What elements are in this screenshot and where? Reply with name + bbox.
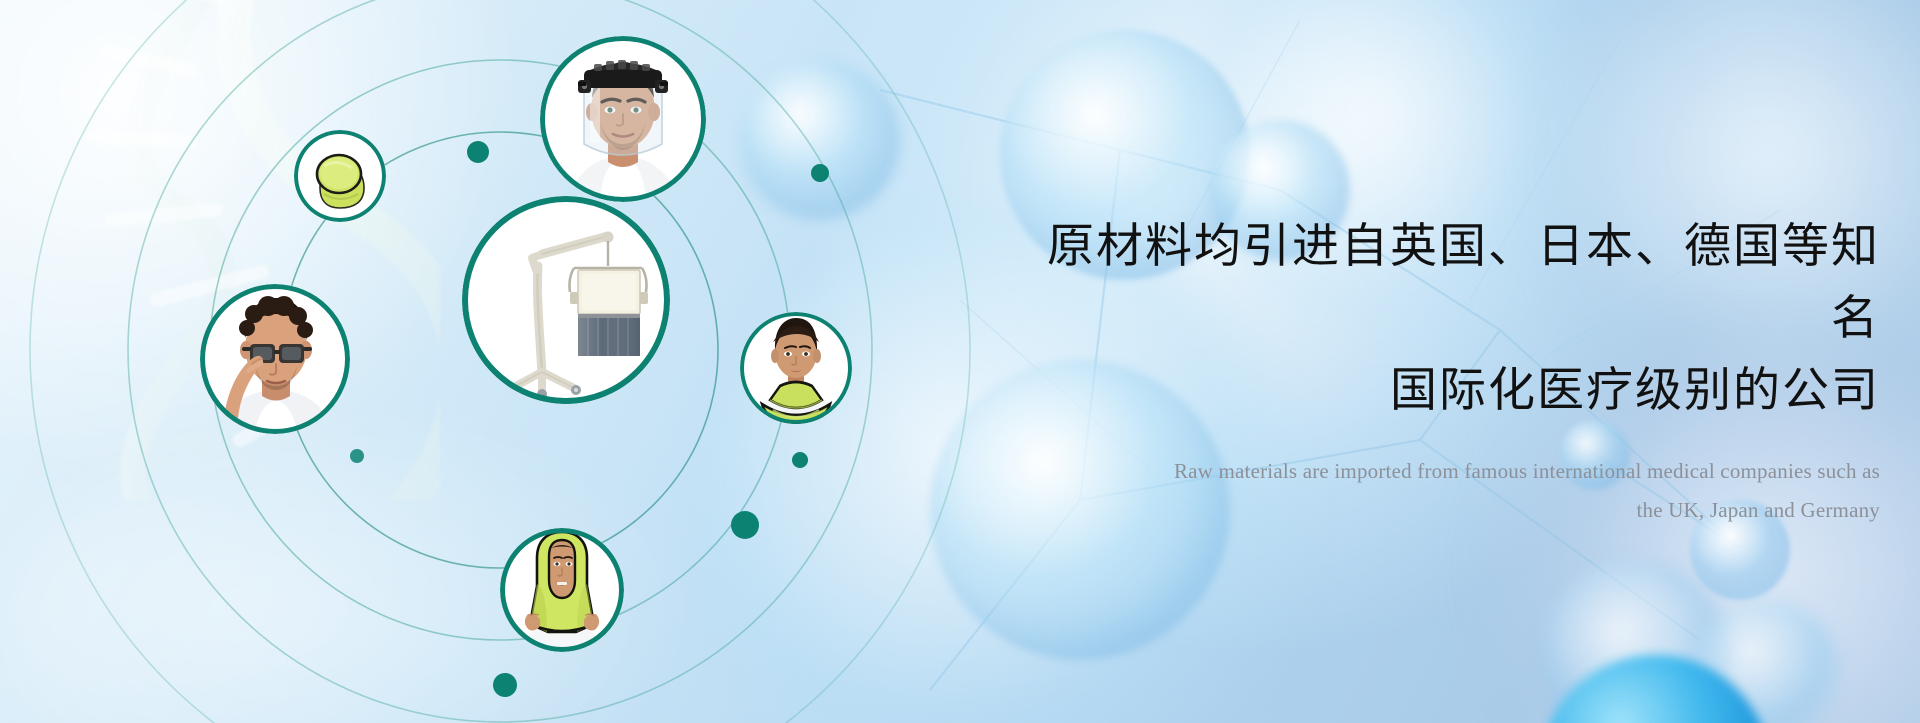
product-bubble-lead-glasses[interactable]: [200, 284, 350, 434]
orbit-dot-bottom: [493, 673, 517, 697]
bg-sphere-highlight: [1690, 600, 1840, 723]
subtitle-line-1: Raw materials are imported from famous i…: [1174, 459, 1880, 483]
protective-cap-photo: [294, 130, 386, 222]
bg-cyan-sphere: [1540, 655, 1770, 723]
hero-banner: 原材料均引进自英国、日本、德国等知名 国际化医疗级别的公司 Raw materi…: [0, 0, 1920, 723]
product-bubble-protective-cap[interactable]: [294, 130, 386, 222]
product-bubble-mobile-barrier[interactable]: [462, 196, 670, 404]
headline-block: 原材料均引进自英国、日本、德国等知名 国际化医疗级别的公司 Raw materi…: [1020, 210, 1880, 530]
orbit-dot-center-low: [731, 511, 759, 539]
molecule-atom-7: [740, 60, 900, 220]
headline-line-2: 国际化医疗级别的公司: [1020, 354, 1880, 426]
orbit-dot-top-left: [467, 141, 489, 163]
face-shield-photo: [540, 36, 706, 202]
mobile-barrier-photo: [462, 196, 670, 404]
product-bubble-thyroid-collar[interactable]: [740, 312, 852, 424]
molecule-atom-6: [1540, 560, 1730, 723]
protective-hood-photo: [500, 528, 624, 652]
product-bubble-protective-hood[interactable]: [500, 528, 624, 652]
subtitle-line-2: the UK, Japan and Germany: [1020, 491, 1880, 530]
headline-line-1: 原材料均引进自英国、日本、德国等知名: [1020, 210, 1880, 354]
orbit-dot-left: [350, 449, 364, 463]
lead-glasses-photo: [200, 284, 350, 434]
thyroid-collar-photo: [740, 312, 852, 424]
orbit-dot-top-right: [811, 164, 829, 182]
subtitle-block: Raw materials are imported from famous i…: [1020, 452, 1880, 530]
orbit-dot-right: [792, 452, 808, 468]
product-bubble-face-shield[interactable]: [540, 36, 706, 202]
